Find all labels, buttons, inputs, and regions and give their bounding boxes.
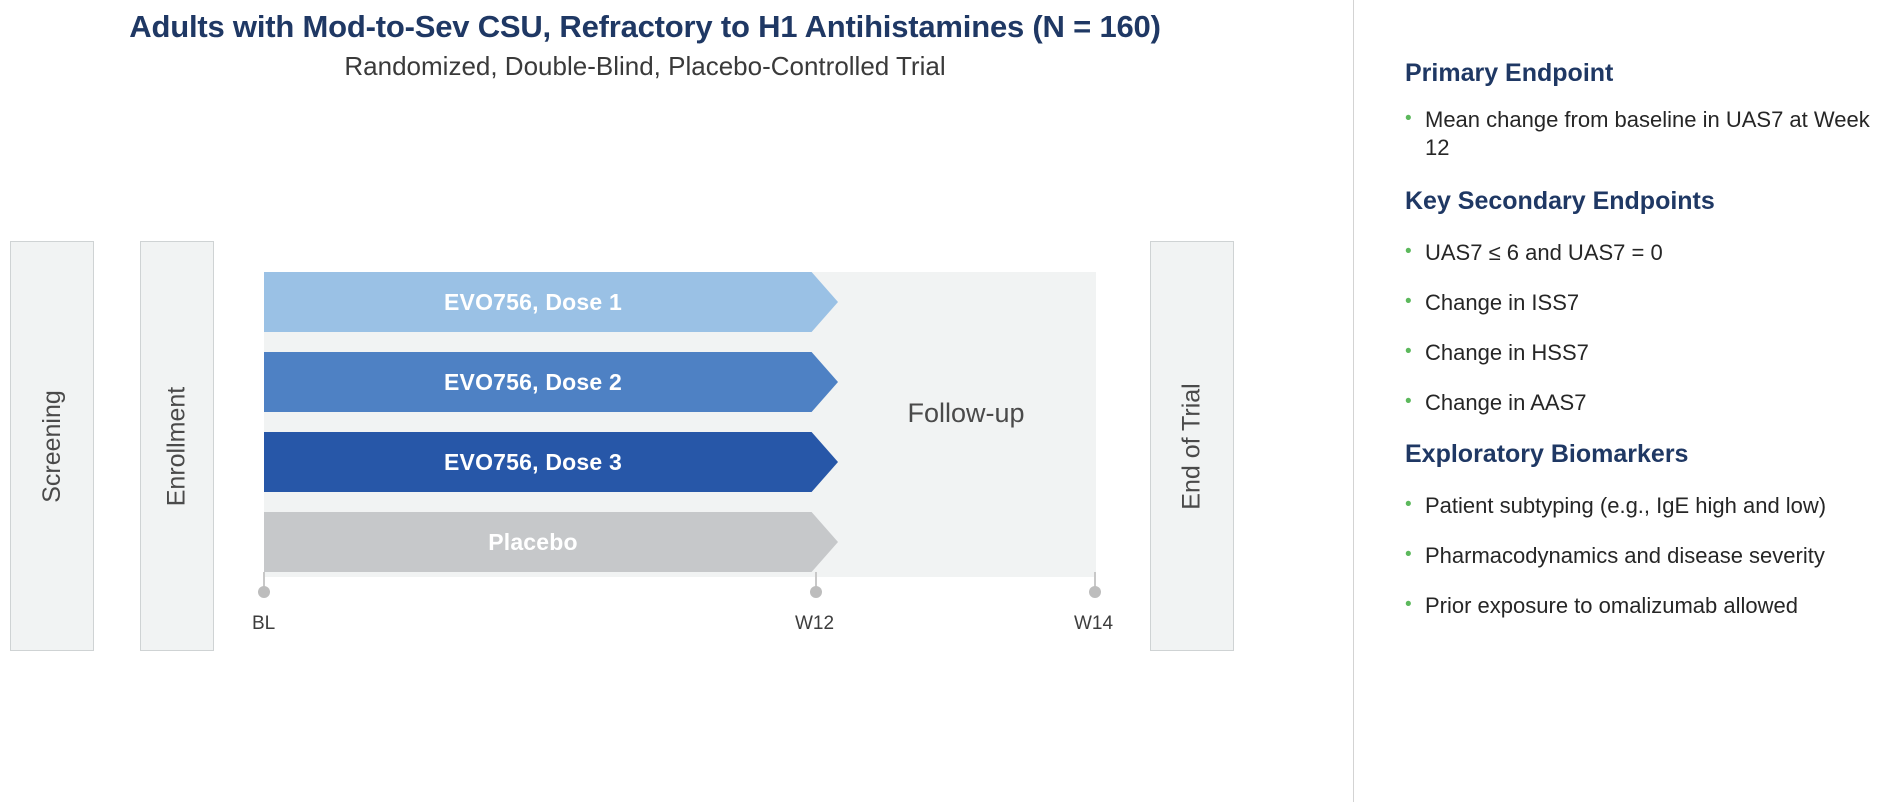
phase-box-end-of-trial: End of Trial xyxy=(1150,241,1234,651)
heading-key-secondary-endpoints: Key Secondary Endpoints xyxy=(1405,187,1715,216)
bullet-icon: • xyxy=(1405,542,1425,569)
list-item: • Change in ISS7 xyxy=(1405,289,1892,317)
axis-dot-w14 xyxy=(1089,586,1101,598)
phase-label-enrollment: Enrollment xyxy=(163,386,192,506)
arm-bar-dose3: EVO756, Dose 3 xyxy=(264,432,838,492)
arm-label-dose1: EVO756, Dose 1 xyxy=(444,289,622,316)
bullet-icon: • xyxy=(1405,106,1425,133)
phase-label-screening: Screening xyxy=(38,390,67,503)
list-item: • Patient subtyping (e.g., IgE high and … xyxy=(1405,492,1892,520)
list-item: • Prior exposure to omalizumab allowed xyxy=(1405,592,1892,620)
list-item-text: Prior exposure to omalizumab allowed xyxy=(1425,592,1892,620)
arm-label-dose2: EVO756, Dose 2 xyxy=(444,369,622,396)
bullet-icon: • xyxy=(1405,492,1425,519)
endpoints-panel: Primary Endpoint • Mean change from base… xyxy=(1405,0,1892,802)
axis-dot-bl xyxy=(258,586,270,598)
phase-box-enrollment: Enrollment xyxy=(140,241,214,651)
axis-tick-label-bl: BL xyxy=(252,613,275,635)
list-item-text: Change in ISS7 xyxy=(1425,289,1892,317)
list-item: • UAS7 ≤ 6 and UAS7 = 0 xyxy=(1405,239,1892,267)
title-block: Adults with Mod-to-Sev CSU, Refractory t… xyxy=(0,8,1290,82)
list-item-text: Patient subtyping (e.g., IgE high and lo… xyxy=(1425,492,1892,520)
followup-label: Follow-up xyxy=(838,398,1094,429)
page-subtitle: Randomized, Double-Blind, Placebo-Contro… xyxy=(0,50,1290,83)
trial-design-diagram: Adults with Mod-to-Sev CSU, Refractory t… xyxy=(0,0,1353,802)
axis-tick-label-w14: W14 xyxy=(1074,613,1113,635)
list-item-text: Change in HSS7 xyxy=(1425,339,1892,367)
axis-tick-label-w12: W12 xyxy=(795,613,834,635)
list-item-text: Pharmacodynamics and disease severity xyxy=(1425,542,1892,570)
list-item: • Change in HSS7 xyxy=(1405,339,1892,367)
axis-dot-w12 xyxy=(810,586,822,598)
bullet-icon: • xyxy=(1405,339,1425,366)
bullet-icon: • xyxy=(1405,592,1425,619)
list-item-text: Mean change from baseline in UAS7 at Wee… xyxy=(1425,106,1892,161)
arm-bar-placebo: Placebo xyxy=(264,512,838,572)
list-item-text: Change in AAS7 xyxy=(1425,389,1892,417)
arm-bar-dose2: EVO756, Dose 2 xyxy=(264,352,838,412)
list-item: • Pharmacodynamics and disease severity xyxy=(1405,542,1892,570)
bullet-icon: • xyxy=(1405,389,1425,416)
heading-primary-endpoint: Primary Endpoint xyxy=(1405,59,1613,88)
list-item-text: UAS7 ≤ 6 and UAS7 = 0 xyxy=(1425,239,1892,267)
bullet-icon: • xyxy=(1405,289,1425,316)
page-title: Adults with Mod-to-Sev CSU, Refractory t… xyxy=(0,8,1290,46)
arm-bar-dose1: EVO756, Dose 1 xyxy=(264,272,838,332)
list-item: • Mean change from baseline in UAS7 at W… xyxy=(1405,106,1892,161)
vertical-divider xyxy=(1353,0,1354,802)
phase-box-screening: Screening xyxy=(10,241,94,651)
arm-label-placebo: Placebo xyxy=(488,529,578,556)
list-item: • Change in AAS7 xyxy=(1405,389,1892,417)
bullet-icon: • xyxy=(1405,239,1425,266)
phase-label-end-of-trial: End of Trial xyxy=(1178,383,1207,509)
heading-exploratory-biomarkers: Exploratory Biomarkers xyxy=(1405,440,1688,469)
arm-label-dose3: EVO756, Dose 3 xyxy=(444,449,622,476)
